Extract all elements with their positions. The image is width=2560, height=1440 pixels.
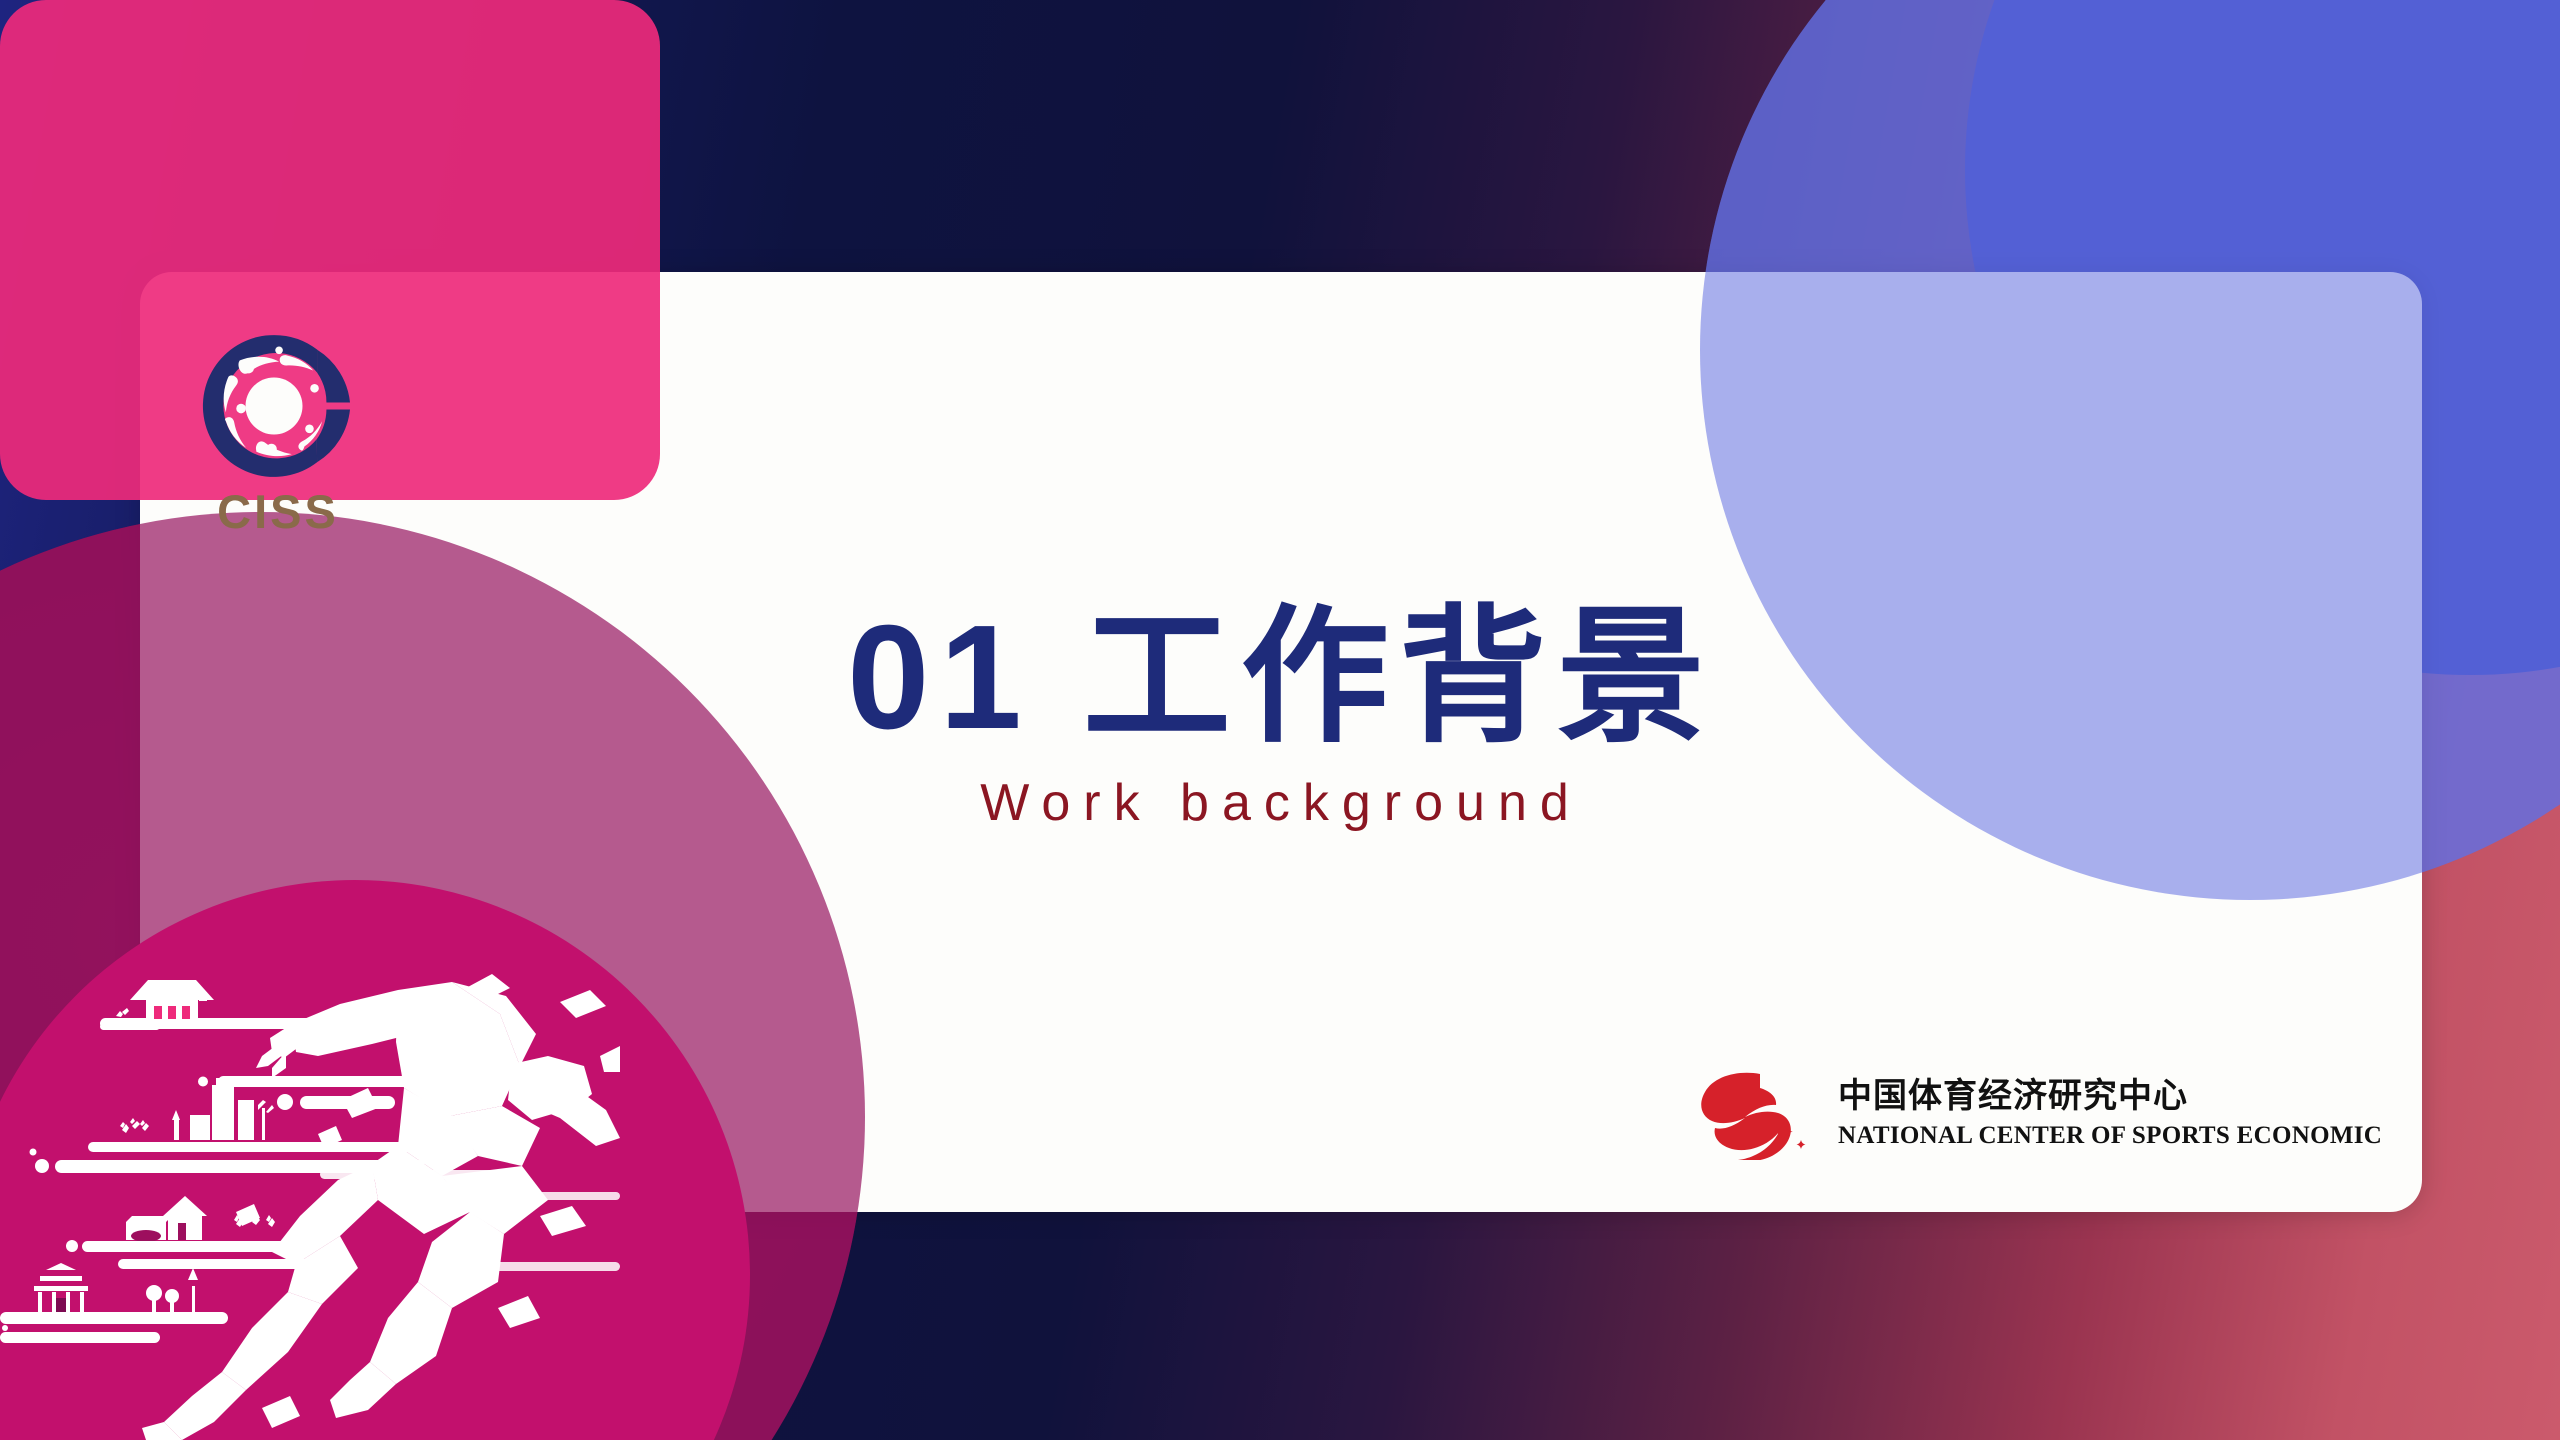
org-name-en: NATIONAL CENTER OF SPORTS ECONOMIC [1838,1121,2382,1151]
gate-silhouette [34,1263,88,1318]
city-skyline-silhouette [172,1078,274,1140]
house-silhouette-2 [126,1196,207,1242]
tree-group [146,1268,198,1314]
ciss-logo: CISS [198,330,358,530]
sprinting-athlete-illustration [0,960,620,1440]
presentation-slide: CISS 01 工作背景 Work background 中国体育经济研究中心 … [0,0,2560,1440]
ciss-wordmark: CISS [198,488,358,535]
title-block: 01 工作背景 Work background [140,600,2422,833]
mini-runners-group-1 [120,1118,149,1133]
ciss-circular-swirl-mark [198,330,350,482]
athlete-body [142,974,620,1440]
red-sports-swoosh-mark [1700,1068,1818,1160]
org-text-block: 中国体育经济研究中心 NATIONAL CENTER OF SPORTS ECO… [1838,1077,2382,1150]
org-name-cn: 中国体育经济研究中心 [1838,1077,2382,1116]
page-subtitle: Work background [140,773,2422,833]
org-logo: 中国体育经济研究中心 NATIONAL CENTER OF SPORTS ECO… [1700,1068,2382,1160]
page-title: 01 工作背景 [140,600,2422,755]
